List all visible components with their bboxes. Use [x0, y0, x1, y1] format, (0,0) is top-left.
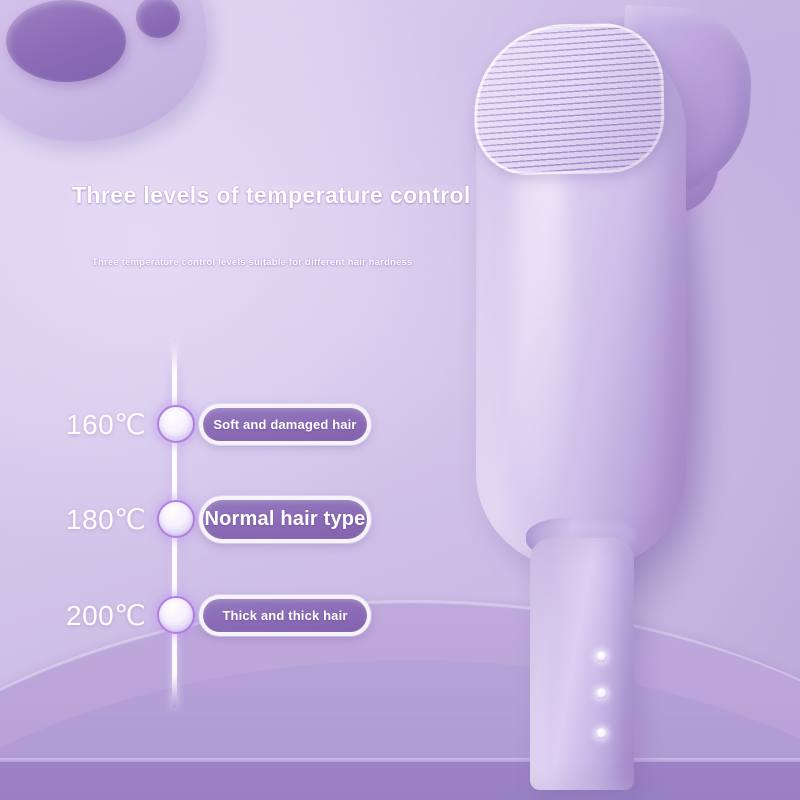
temperature-level-row-2: 180℃ Normal hair type: [0, 494, 420, 544]
hair-type-label-1: Soft and damaged hair: [213, 417, 356, 432]
hair-type-pill-2[interactable]: Normal hair type: [199, 496, 371, 543]
paw-pad-main: [6, 0, 126, 82]
page-subtitle: Three temperature control levels suitabl…: [92, 257, 413, 268]
led-indicator-icon-2: [596, 688, 607, 699]
led-indicator-icon-1: [596, 651, 607, 662]
temperature-level-row-3: 200℃ Thick and thick hair: [0, 590, 420, 640]
slider-knob-3[interactable]: [157, 596, 195, 634]
slider-knob-2[interactable]: [157, 500, 195, 538]
page-title: Three levels of temperature control: [72, 182, 471, 209]
product-hair-dryer: [470, 18, 735, 778]
product-banner: Three levels of temperature control Thre…: [0, 0, 800, 800]
temperature-value-2: 180℃: [66, 503, 162, 536]
temperature-value-3: 200℃: [66, 599, 162, 632]
hair-type-pill-1[interactable]: Soft and damaged hair: [199, 404, 371, 445]
led-indicator-icon-3: [596, 728, 607, 739]
hair-type-label-2: Normal hair type: [204, 508, 365, 531]
slider-knob-1[interactable]: [157, 405, 195, 443]
grille-shading: [473, 22, 666, 175]
temperature-level-row-1: 160℃ Soft and damaged hair: [0, 399, 420, 449]
hair-type-pill-3[interactable]: Thick and thick hair: [199, 595, 371, 636]
dryer-handle: [530, 538, 634, 790]
temperature-value-1: 160℃: [66, 408, 162, 441]
dryer-air-intake-grille: [473, 22, 666, 175]
cat-paw-prop: [0, 0, 208, 142]
hair-type-label-3: Thick and thick hair: [222, 608, 347, 623]
